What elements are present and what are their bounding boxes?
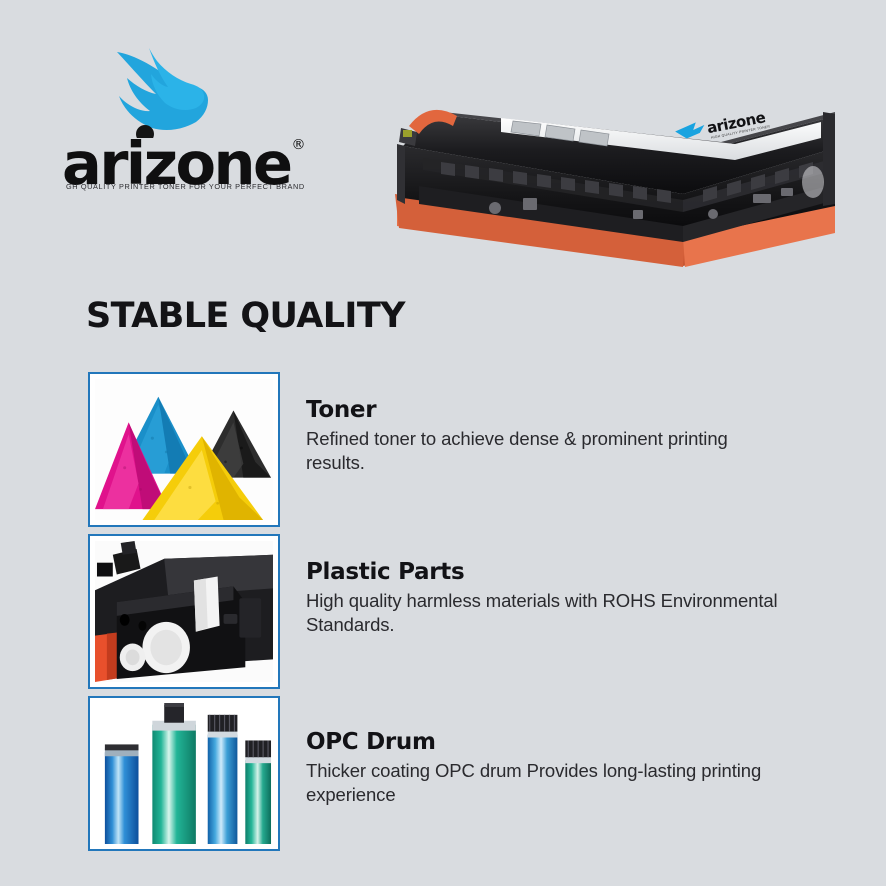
feature-title: OPC Drum	[306, 730, 784, 755]
feature-text-plastic-parts: Plastic Parts High quality harmless mate…	[306, 560, 784, 637]
opc-drum-thumbnail	[88, 696, 280, 851]
feature-item-plastic-parts: Plastic Parts High quality harmless mate…	[88, 534, 788, 694]
feature-title: Toner	[306, 398, 784, 423]
toner-powder-thumbnail	[88, 372, 280, 527]
brand-logo: arizone® GH QUALITY PRINTER TONER FOR YO…	[62, 42, 277, 197]
feature-item-opc-drum: OPC Drum Thicker coating OPC drum Provid…	[88, 696, 788, 856]
feature-text-toner: Toner Refined toner to achieve dense & p…	[306, 398, 784, 475]
plastic-parts-thumbnail	[88, 534, 280, 689]
section-title: STABLE QUALITY	[86, 296, 405, 336]
brand-tagline: GH QUALITY PRINTER TONER FOR YOUR PERFEC…	[66, 182, 279, 191]
feature-text-opc-drum: OPC Drum Thicker coating OPC drum Provid…	[306, 730, 784, 807]
feature-description: Thicker coating OPC drum Provides long-l…	[306, 759, 784, 806]
feature-description: High quality harmless materials with ROH…	[306, 589, 784, 636]
registered-trademark-icon: ®	[292, 137, 306, 153]
toner-cartridge-photo: arizone HIGH QUALITY PRINTER TONER	[383, 86, 838, 271]
feature-item-toner: Toner Refined toner to achieve dense & p…	[88, 372, 788, 532]
feature-title: Plastic Parts	[306, 560, 784, 585]
header-banner: arizone® GH QUALITY PRINTER TONER FOR YO…	[0, 0, 886, 285]
feature-description: Refined toner to achieve dense & promine…	[306, 427, 784, 474]
bird-icon	[100, 42, 210, 138]
